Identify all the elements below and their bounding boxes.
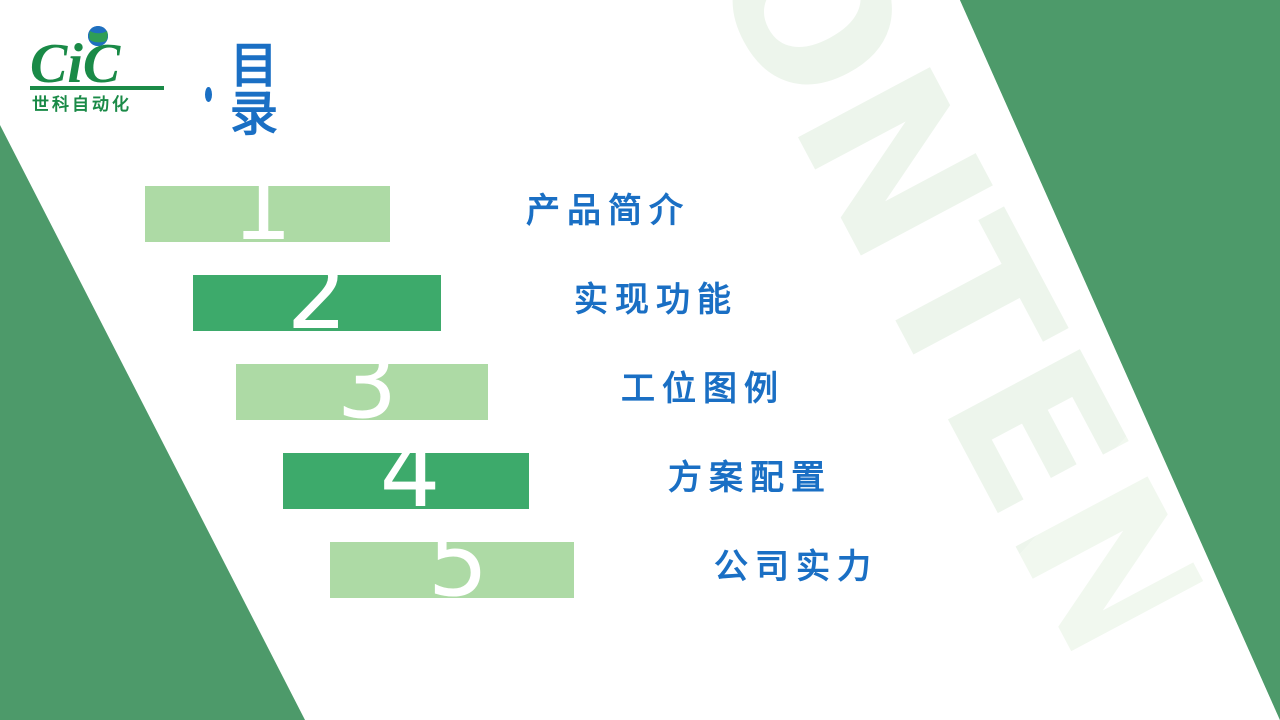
contents-item-label[interactable]: 公司实力 <box>458 544 878 592</box>
contents-item-label[interactable]: 实现功能 <box>318 277 738 325</box>
logo-underline <box>30 86 164 90</box>
contents-item-label[interactable]: 产品简介 <box>270 188 690 236</box>
contents-item[interactable]: 2实现功能 <box>0 269 1280 358</box>
title-bullet-icon <box>205 87 212 102</box>
page-title: 目 录 <box>230 42 300 138</box>
contents-item-label[interactable]: 工位图例 <box>365 366 785 414</box>
slide-canvas: CONTENTS CONTENTS CiC 世科自动化 目 录 1产品简介2实现… <box>0 0 1280 720</box>
contents-item[interactable]: 4方案配置 <box>0 447 1280 536</box>
contents-item[interactable]: 3工位图例 <box>0 358 1280 447</box>
company-logo: CiC 世科自动化 <box>24 24 174 116</box>
contents-item[interactable]: 1产品简介 <box>0 180 1280 269</box>
logo-subtitle-text: 世科自动化 <box>32 94 132 115</box>
logo-wordmark: CiC <box>30 33 121 95</box>
page-title-row: 目 录 <box>205 42 300 138</box>
contents-list: 1产品简介2实现功能3工位图例4方案配置5公司实力 <box>0 180 1280 625</box>
contents-item[interactable]: 5公司实力 <box>0 536 1280 625</box>
contents-item-label[interactable]: 方案配置 <box>412 455 832 503</box>
